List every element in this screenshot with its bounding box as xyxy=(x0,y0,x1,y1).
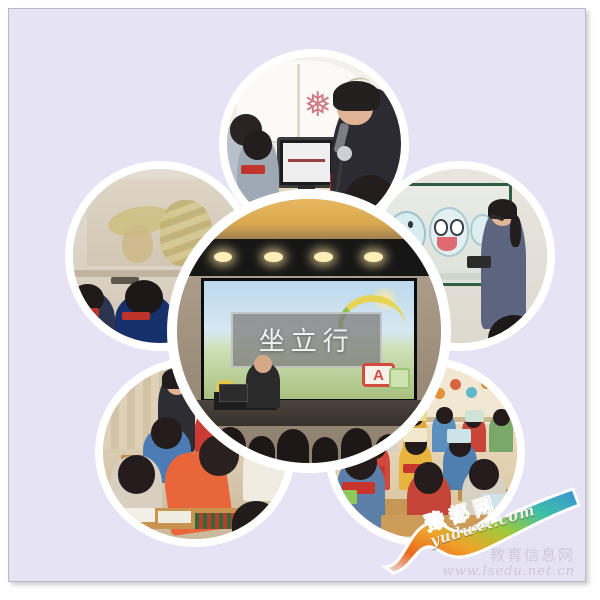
photo-center: 坐立行 A xyxy=(177,199,441,463)
student-head xyxy=(493,409,510,426)
wall-dot xyxy=(450,379,461,390)
audience-head xyxy=(375,434,404,463)
monitor-screen-text xyxy=(288,159,325,162)
red-scarf-2 xyxy=(122,312,150,321)
ceiling xyxy=(177,199,441,244)
monitor xyxy=(277,137,335,188)
raised-card xyxy=(447,429,471,443)
red-scarf xyxy=(241,165,265,174)
scene-auditorium-projection: 坐立行 A xyxy=(177,199,441,463)
screenshot-root: ❅ xyxy=(0,0,600,600)
image-frame: ❅ xyxy=(8,8,586,582)
raised-card xyxy=(482,494,506,508)
cartoon-face xyxy=(122,225,153,263)
teacher-hair xyxy=(333,81,380,111)
audience-head xyxy=(182,433,211,463)
audience-row xyxy=(177,410,441,463)
photo-collage: ❅ xyxy=(9,9,586,582)
student-head xyxy=(414,462,443,493)
window-mullion xyxy=(297,64,300,137)
presenter-head xyxy=(254,355,272,373)
student-head-6 xyxy=(232,501,280,539)
student-head-2 xyxy=(243,130,273,160)
photo-bubble-center[interactable]: 坐立行 A xyxy=(167,189,451,473)
student-head xyxy=(469,459,498,490)
cartoon-eye xyxy=(450,219,464,235)
projection-screen: 坐立行 A xyxy=(204,281,414,399)
ceiling-light xyxy=(264,252,282,263)
laptop xyxy=(219,384,247,402)
ceiling-light xyxy=(314,252,332,263)
slide-green-block xyxy=(389,368,410,389)
wall-dot xyxy=(481,378,492,389)
paper xyxy=(158,511,191,523)
audience-head xyxy=(407,430,439,463)
paper xyxy=(114,508,154,522)
monitor-screen xyxy=(283,143,329,182)
student-head-2 xyxy=(118,455,155,493)
audience-head xyxy=(312,437,338,463)
audience-head xyxy=(277,429,309,463)
red-scarf-1 xyxy=(73,308,99,317)
raised-card xyxy=(335,490,357,504)
audience-head xyxy=(214,427,246,463)
wall-dot xyxy=(466,387,477,398)
raised-card xyxy=(465,410,483,422)
desk-row-front xyxy=(381,515,488,536)
teacher-ponytail xyxy=(510,216,520,247)
held-book xyxy=(467,256,491,268)
book xyxy=(195,513,235,529)
audience-head xyxy=(248,436,274,463)
audience-head xyxy=(341,428,373,463)
